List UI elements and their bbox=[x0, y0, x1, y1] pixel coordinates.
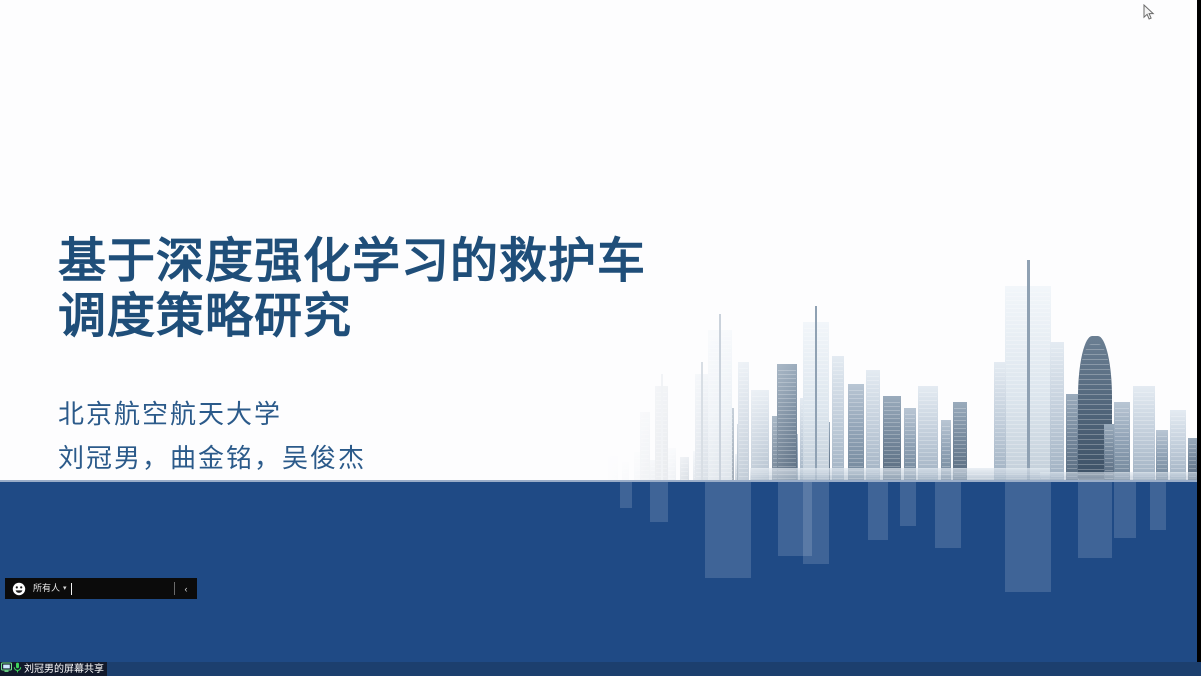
presentation-slide: 基于深度强化学习的救护车 调度策略研究 北京航空航天大学 刘冠男，曲金铭，吴俊杰… bbox=[0, 0, 1197, 662]
chat-input[interactable] bbox=[72, 578, 174, 599]
chat-audience-label: 所有人 bbox=[33, 584, 60, 594]
taskbar-item-label: 刘冠男的屏幕共享 bbox=[24, 664, 104, 675]
screen-share-viewport: 基于深度强化学习的救护车 调度策略研究 北京航空航天大学 刘冠男，曲金铭，吴俊杰… bbox=[0, 0, 1201, 676]
slide-blue-band bbox=[0, 480, 1197, 662]
taskbar: 刘冠男的屏幕共享 bbox=[0, 662, 1201, 676]
slide-subtitle-block: 北京航空航天大学 刘冠男，曲金铭，吴俊杰 bbox=[58, 393, 366, 481]
chat-audience-selector[interactable]: 所有人 ▾ bbox=[33, 584, 67, 594]
monitor-icon bbox=[1, 660, 12, 676]
slide-title-block: 基于深度强化学习的救护车 调度策略研究 bbox=[58, 234, 758, 344]
microphone-icon bbox=[13, 660, 22, 676]
chat-collapse-button[interactable]: ‹ bbox=[175, 578, 197, 599]
right-letterbox bbox=[1197, 0, 1201, 676]
authors-text: 刘冠男，曲金铭，吴俊杰 bbox=[58, 437, 366, 481]
page-title-line-2: 调度策略研究 bbox=[58, 289, 758, 344]
page-title-line-1: 基于深度强化学习的救护车 bbox=[58, 234, 758, 289]
smiley-face-icon[interactable] bbox=[12, 582, 26, 596]
meeting-chat-bar[interactable]: 所有人 ▾ ‹ bbox=[5, 578, 197, 599]
affiliation-text: 北京航空航天大学 bbox=[58, 393, 366, 437]
taskbar-item-screen-share[interactable]: 刘冠男的屏幕共享 bbox=[0, 662, 107, 676]
chevron-down-icon: ▾ bbox=[63, 585, 67, 592]
arrow-pointer-icon bbox=[1143, 4, 1155, 22]
